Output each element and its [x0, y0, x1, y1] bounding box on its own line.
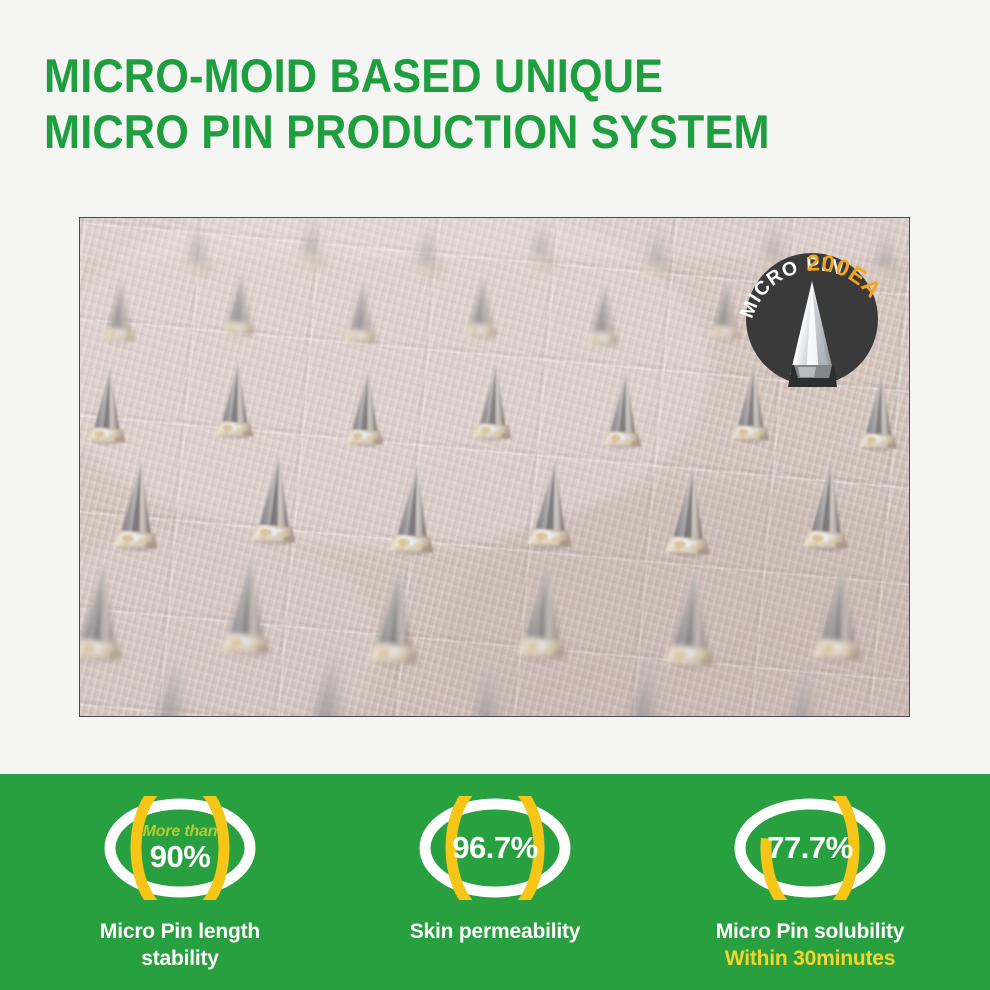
infographic-page: MICRO-MOID BASED UNIQUE MICRO PIN PRODUC…: [0, 0, 990, 990]
stat-label-line1: Micro Pin length: [21, 918, 339, 945]
title-line-2: MICRO PIN PRODUCTION SYSTEM: [44, 104, 872, 160]
stat-label-line1: Micro Pin solubility: [651, 918, 969, 945]
stat-value: 77.7%: [767, 832, 852, 864]
stat-card-skin-permeability: 96.7% Skin permeability: [330, 774, 660, 990]
stat-label-line2: stability: [21, 945, 339, 972]
progress-ring-77-7: 77.7%: [730, 796, 890, 900]
progress-ring-90: More than 90%: [100, 796, 260, 900]
ring-text-group: 96.7%: [415, 796, 575, 900]
ring-text-group: More than 90%: [100, 796, 260, 900]
stats-band: More than 90% Micro Pin length stability…: [0, 774, 990, 990]
progress-ring-96-7: 96.7%: [415, 796, 575, 900]
stat-prefix-label: More than: [143, 823, 218, 840]
page-title: MICRO-MOID BASED UNIQUE MICRO PIN PRODUC…: [44, 48, 944, 160]
stat-sublabel: Within 30minutes: [651, 945, 969, 972]
stat-card-micro-pin-solubility: 77.7% Micro Pin solubility Within 30minu…: [645, 774, 975, 990]
title-line-1: MICRO-MOID BASED UNIQUE: [44, 48, 872, 104]
stat-card-micro-pin-length-stability: More than 90% Micro Pin length stability: [15, 774, 345, 990]
stat-caption: Micro Pin length stability: [15, 918, 345, 972]
micro-pin-200ea-badge: MICRO PIN 200EA: [736, 243, 888, 395]
stat-value: 90%: [150, 841, 211, 873]
stat-caption: Micro Pin solubility Within 30minutes: [645, 918, 975, 972]
stat-label-line1: Skin permeability: [336, 918, 654, 945]
stat-caption: Skin permeability: [330, 918, 660, 945]
ring-text-group: 77.7%: [730, 796, 890, 900]
stat-value: 96.7%: [452, 832, 537, 864]
